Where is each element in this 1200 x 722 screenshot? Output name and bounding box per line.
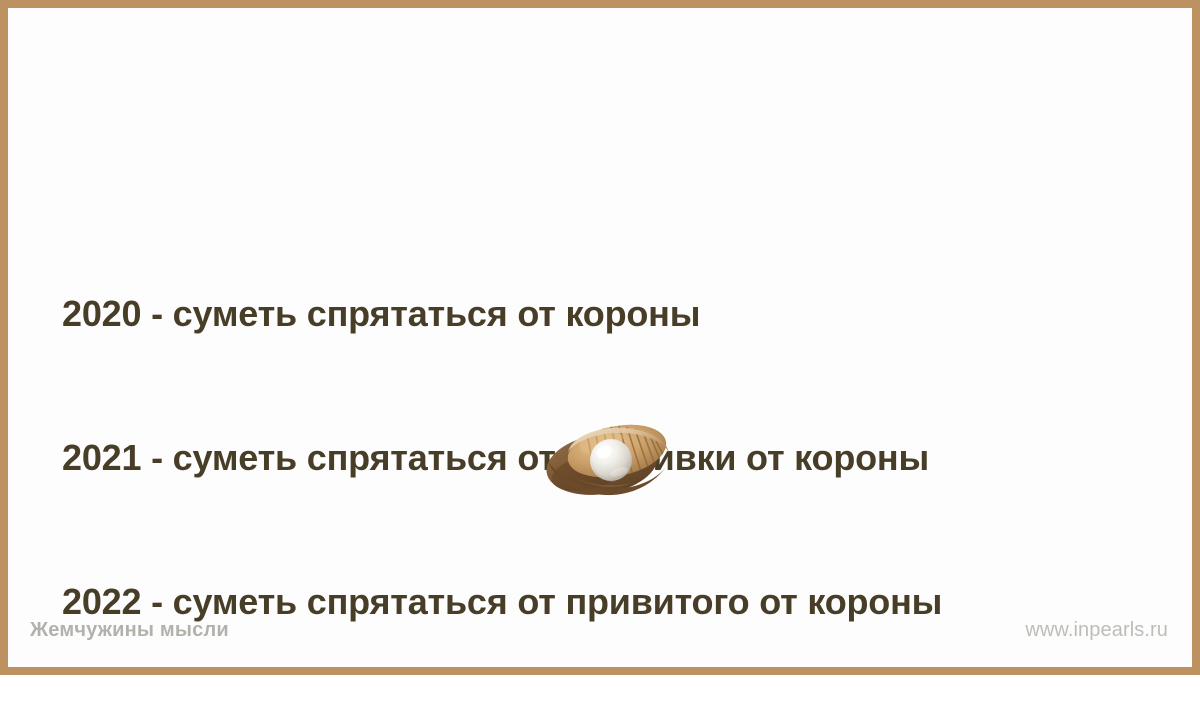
shell-with-pearl-icon xyxy=(539,418,679,500)
quote-card: 2020 - суметь спрятаться от короны 2021 … xyxy=(0,0,1200,675)
site-url-label[interactable]: www.inpearls.ru xyxy=(1025,619,1168,641)
quote-line-1: 2020 - суметь спрятаться от короны xyxy=(62,290,1154,338)
brand-label: Жемчужины мысли xyxy=(30,619,229,641)
